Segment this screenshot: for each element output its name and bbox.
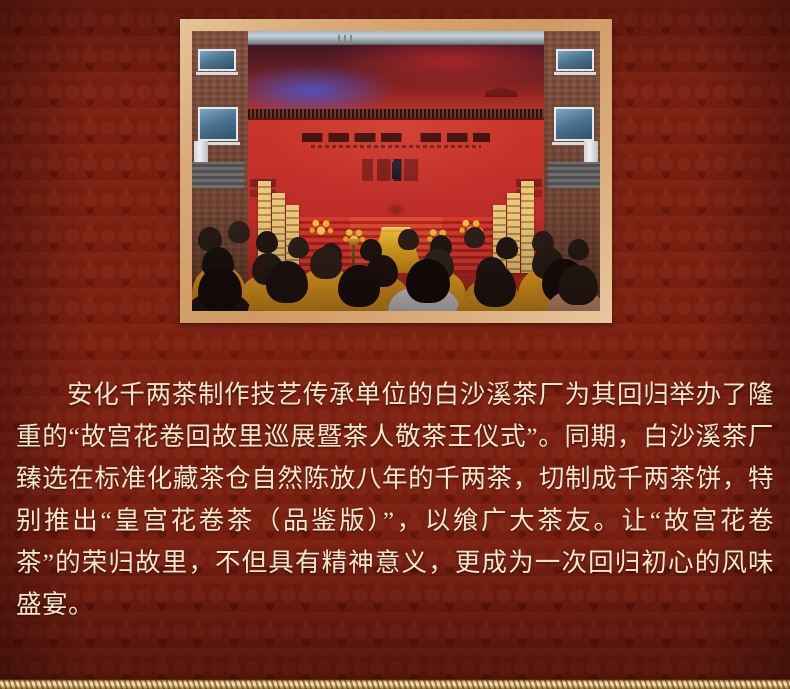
window-pane: [198, 49, 236, 71]
led-mullion-icon: [338, 35, 340, 44]
porch-pillar: [584, 141, 598, 163]
side-stairs: [192, 162, 244, 188]
seal-icon: [392, 162, 400, 179]
led-screen-frame: [244, 35, 548, 45]
photo-frame: [180, 19, 612, 323]
window-pane: [198, 107, 238, 141]
crowd-shadow: [192, 215, 600, 311]
window-sill: [196, 72, 238, 75]
porch-pillar: [194, 141, 208, 163]
led-mullion-icon: [344, 35, 346, 44]
side-stairs: [548, 162, 600, 188]
bottom-gold-trim: [0, 679, 790, 689]
window-pane: [554, 107, 594, 141]
tiled-eave: [244, 109, 548, 118]
window-pane: [556, 49, 594, 71]
led-mullion-icon: [350, 35, 352, 44]
led-backdrop-screen: [244, 39, 548, 111]
backdrop-banner-subline: [311, 145, 481, 148]
article-body-text: 安化千两茶制作技艺传承单位的白沙溪茶厂为其回归举办了隆重的“故宫花卷回故里巡展暨…: [16, 374, 774, 626]
ceremony-photo: [192, 31, 600, 311]
backdrop-banner-headline: [302, 133, 490, 142]
promo-page: 安化千两茶制作技艺传承单位的白沙溪茶厂为其回归举办了隆重的“故宫花卷回故里巡展暨…: [0, 0, 790, 689]
window-sill: [554, 72, 596, 75]
